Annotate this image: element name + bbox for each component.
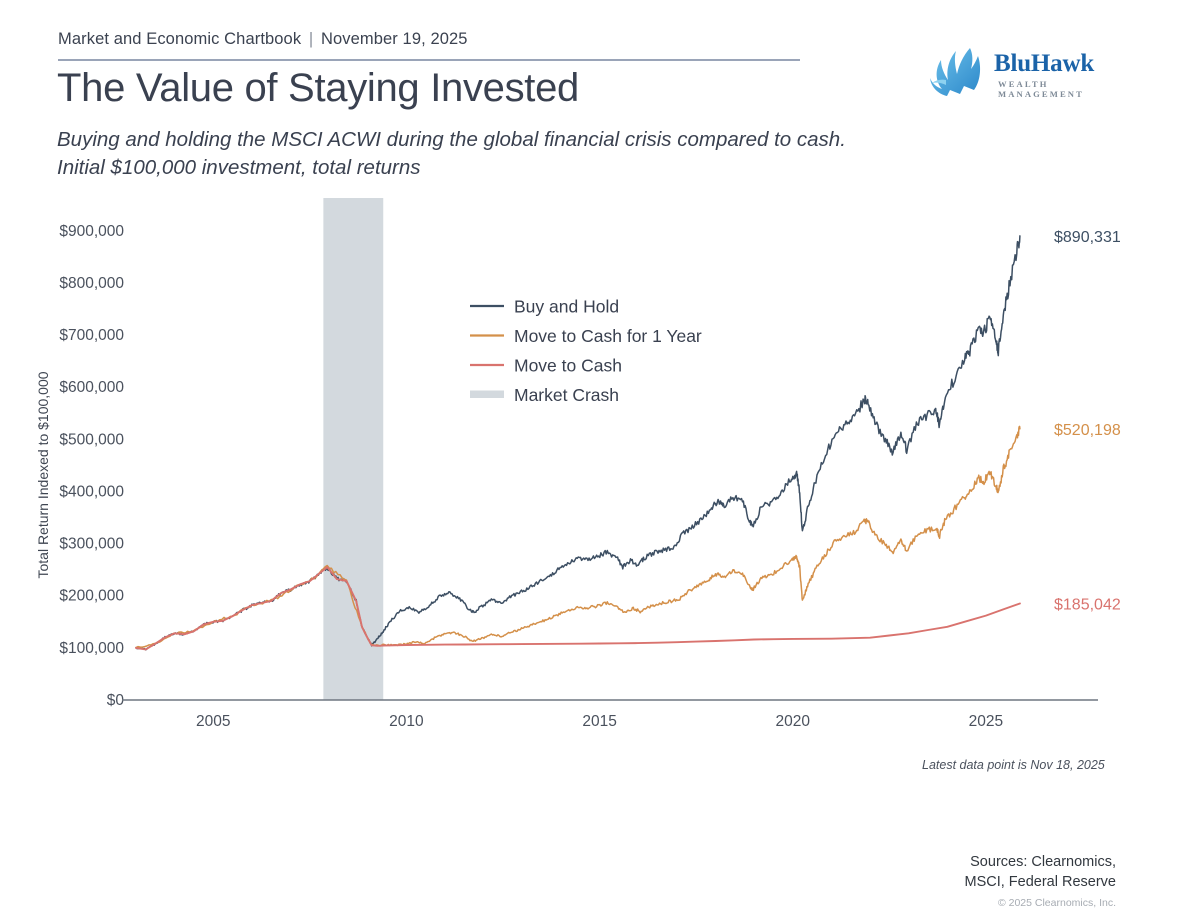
chartbook-slide: Market and Economic Chartbook | November… — [0, 0, 1200, 920]
latest-data-note: Latest data point is Nov 18, 2025 — [922, 758, 1105, 772]
legend-swatch-market-crash — [470, 391, 504, 399]
y-axis-tick-label: $200,000 — [59, 588, 124, 605]
page-title: The Value of Staying Invested — [57, 66, 579, 111]
bluhawk-logo: BluHawk WEALTH MANAGEMENT — [930, 46, 1110, 102]
logo-wordmark: BluHawk — [994, 50, 1094, 78]
y-axis-tick-label: $900,000 — [59, 223, 124, 240]
legend-label-buy-and-hold: Buy and Hold — [514, 297, 619, 317]
end-value-label: $185,042 — [1054, 597, 1121, 614]
y-axis-title: Total Return Indexed to $100,000 — [35, 371, 51, 578]
header-divider — [58, 59, 800, 61]
x-axis-tick-label: 2015 — [582, 713, 616, 728]
market-crash-band — [323, 198, 383, 700]
sources-line-2: MSCI, Federal Reserve — [965, 872, 1117, 892]
x-axis-tick-label: 2025 — [969, 713, 1003, 728]
x-axis-tick-label: 2005 — [196, 713, 230, 728]
end-value-label: $520,198 — [1054, 422, 1121, 439]
y-axis-tick-label: $400,000 — [59, 483, 124, 500]
hawk-icon — [930, 46, 994, 100]
y-axis-tick-label: $700,000 — [59, 327, 124, 344]
sources-note: Sources: Clearnomics, MSCI, Federal Rese… — [965, 852, 1117, 892]
y-axis-tick-label: $600,000 — [59, 379, 124, 396]
kicker: Market and Economic Chartbook | November… — [58, 30, 468, 49]
kicker-title: Market and Economic Chartbook — [58, 30, 301, 48]
legend-label-move-to-cash: Move to Cash — [514, 356, 622, 376]
chart: $0$100,000$200,000$300,000$400,000$500,0… — [0, 188, 1200, 728]
chart-canvas: $0$100,000$200,000$300,000$400,000$500,0… — [0, 188, 1200, 728]
logo-tagline: WEALTH MANAGEMENT — [998, 79, 1110, 99]
y-axis-tick-label: $100,000 — [59, 640, 124, 657]
series-line-move-to-cash — [136, 567, 1020, 649]
legend-label-move-to-cash-for-1-year: Move to Cash for 1 Year — [514, 326, 702, 346]
legend-label-market-crash: Market Crash — [514, 385, 619, 405]
page-subtitle: Buying and holding the MSCI ACWI during … — [57, 126, 847, 181]
series-line-move-to-cash-for-1-year — [136, 426, 1020, 647]
y-axis-tick-label: $800,000 — [59, 275, 124, 292]
sources-line-1: Sources: Clearnomics, — [965, 852, 1117, 872]
y-axis-tick-label: $500,000 — [59, 431, 124, 448]
y-axis-tick-label: $300,000 — [59, 536, 124, 553]
kicker-date: November 19, 2025 — [321, 30, 468, 48]
y-axis-tick-label: $0 — [107, 692, 125, 709]
x-axis-tick-label: 2010 — [389, 713, 424, 728]
copyright-note: © 2025 Clearnomics, Inc. — [998, 897, 1116, 909]
end-value-label: $890,331 — [1054, 229, 1121, 246]
kicker-separator: | — [306, 30, 316, 48]
x-axis-tick-label: 2020 — [776, 713, 811, 728]
